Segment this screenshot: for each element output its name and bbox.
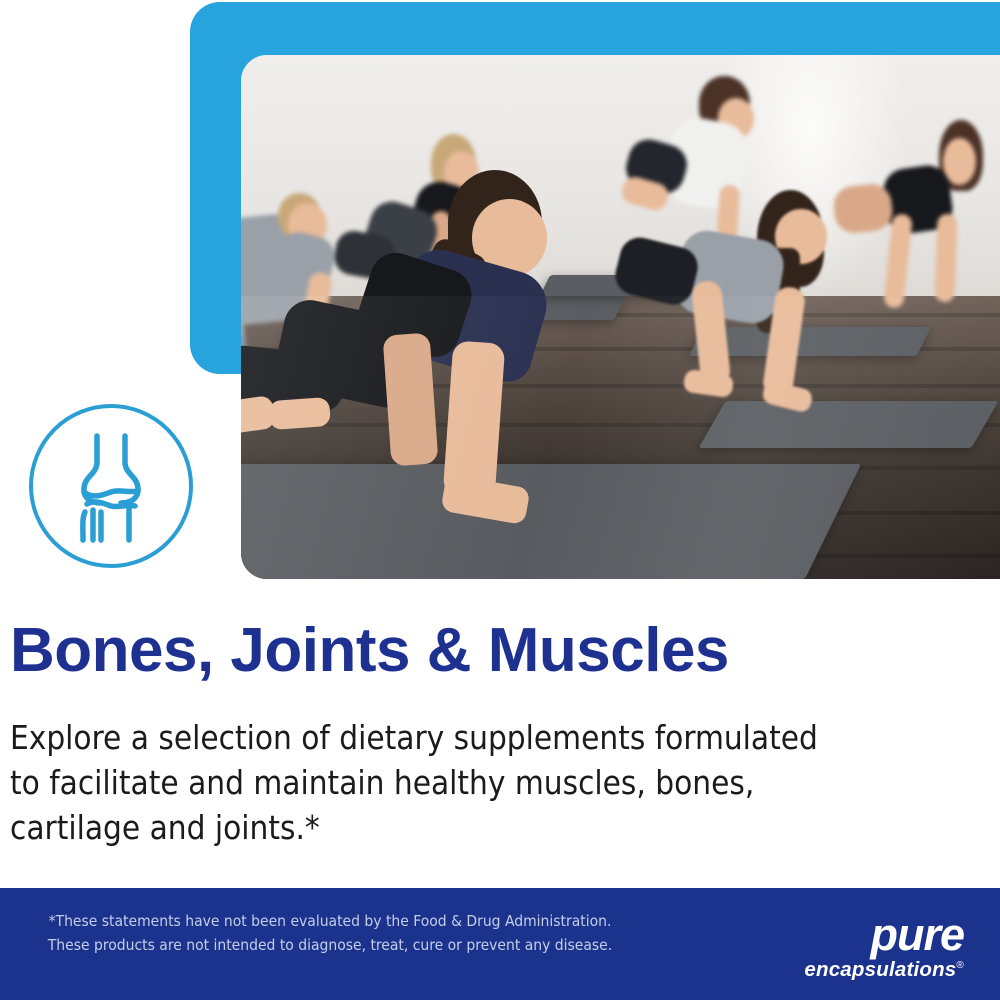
- page-description: Explore a selection of dietary supplemen…: [10, 716, 960, 851]
- brand-logo: pure encapsulations®: [734, 912, 964, 978]
- footer-bar: *These statements have not been evaluate…: [0, 888, 1000, 1000]
- registered-mark-icon: ®: [956, 960, 964, 971]
- fda-disclaimer: *These statements have not been evaluate…: [0, 909, 660, 957]
- page-title: Bones, Joints & Muscles: [10, 618, 729, 683]
- hero-photo: [241, 55, 1000, 579]
- knee-joint-icon: [25, 400, 197, 572]
- brand-logo-secondary-text: encapsulations: [804, 958, 956, 981]
- description-line: cartilage and joints.*: [10, 806, 960, 851]
- product-category-banner: Bones, Joints & Muscles Explore a select…: [0, 0, 1000, 1000]
- brand-logo-primary: pure: [734, 912, 964, 957]
- disclaimer-line: *These statements have not been evaluate…: [0, 909, 660, 933]
- description-line: to facilitate and maintain healthy muscl…: [10, 761, 960, 806]
- description-line: Explore a selection of dietary supplemen…: [10, 716, 960, 761]
- disclaimer-line: These products are not intended to diagn…: [0, 933, 660, 957]
- photo-floor-gloss: [241, 296, 1000, 579]
- brand-logo-secondary: encapsulations®: [734, 960, 964, 981]
